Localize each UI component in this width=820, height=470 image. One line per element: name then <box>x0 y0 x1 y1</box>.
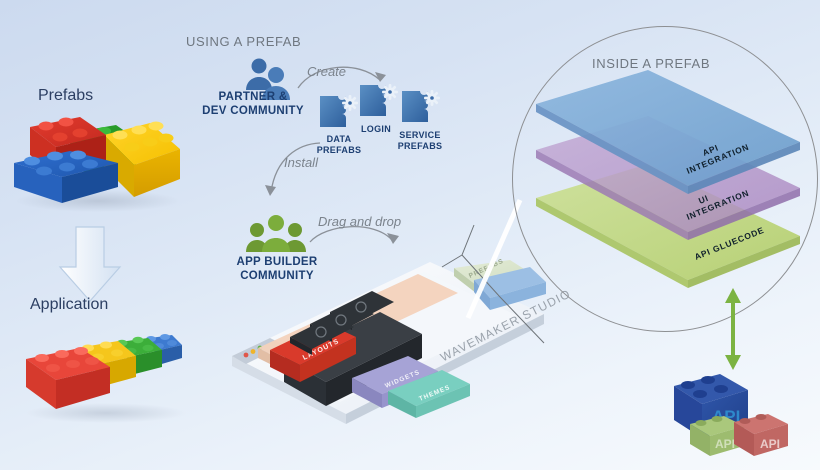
svg-text:API: API <box>715 437 735 451</box>
svg-text:API: API <box>760 437 780 451</box>
down-arrow-icon <box>56 225 126 305</box>
application-lego-plate <box>18 325 193 430</box>
create-label: Create <box>307 64 346 79</box>
loose-lego-bricks <box>8 105 183 210</box>
service-prefabs-line2: PREFABS <box>389 141 451 152</box>
api-lego-bricks: API API API <box>668 368 808 463</box>
diagram-canvas: Prefabs [data-name="prefabs-label"],[dat… <box>0 0 820 470</box>
inside-prefab-title: INSIDE A PREFAB <box>592 56 710 71</box>
application-label: Application <box>30 296 108 314</box>
drag-drop-label: Drag and drop <box>318 214 401 229</box>
service-prefabs-label: SERVICE PREFABS <box>389 130 451 152</box>
install-arrow-icon <box>258 140 328 208</box>
partner-dev-community-label: PARTNER & DEV COMMUNITY <box>198 90 308 118</box>
partner-dev-line1: PARTNER & <box>198 90 308 104</box>
prefab-layers: API GLUECODE UI INTEGRATION API INTEGRAT… <box>528 88 808 288</box>
prefabs-label: Prefabs <box>38 87 93 105</box>
api-brick-red: API <box>734 414 788 456</box>
service-prefabs-line1: SERVICE <box>389 130 451 141</box>
login-prefab-icon <box>358 82 400 124</box>
service-prefabs-icon <box>400 88 442 130</box>
partner-dev-line2: DEV COMMUNITY <box>198 104 308 118</box>
install-label: Install <box>284 155 318 170</box>
using-prefab-title: USING A PREFAB <box>186 34 301 49</box>
vertical-double-arrow-icon <box>722 288 744 370</box>
